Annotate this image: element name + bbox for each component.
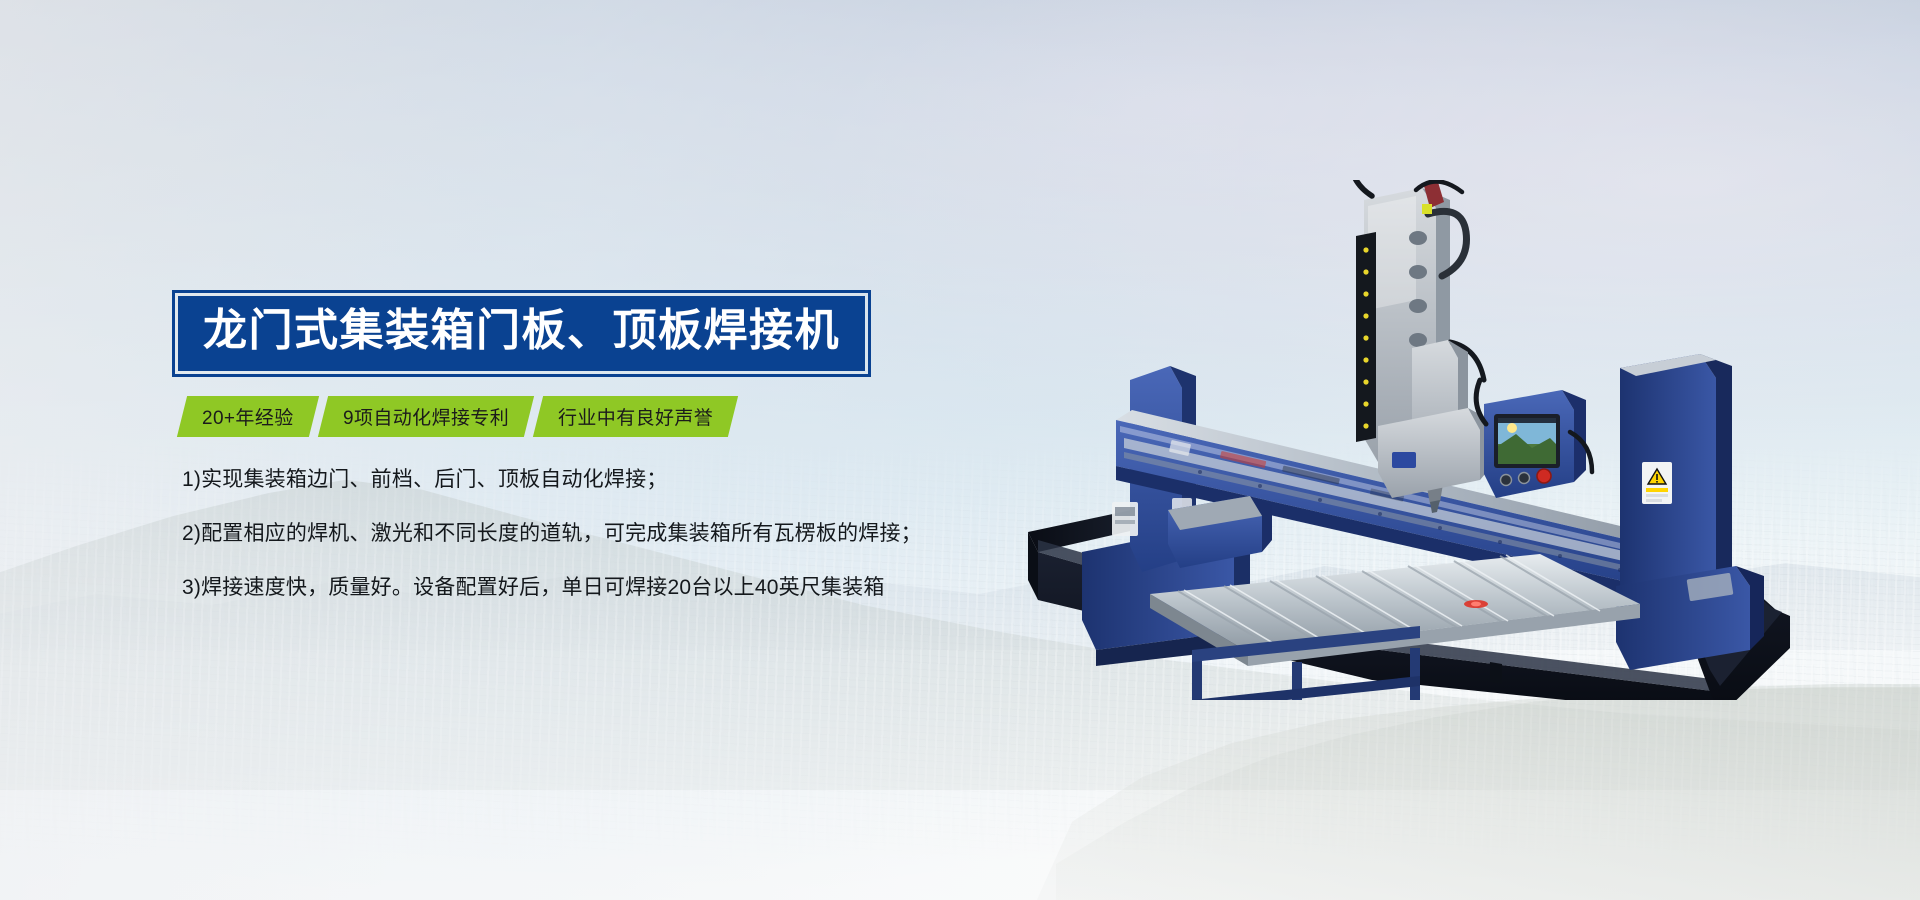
feature-point-list: 1)实现集装箱边门、前档、后门、顶板自动化焊接； 2)配置相应的焊机、激光和不同…: [182, 469, 1098, 598]
feature-point: 1)实现集装箱边门、前档、后门、顶板自动化焊接；: [182, 469, 1098, 490]
headline-plate-inner: 龙门式集装箱门板、顶板焊接机: [181, 299, 862, 368]
feature-badge-list: 20+年经验 9项自动化焊接专利 行业中有良好声誉: [182, 396, 1098, 437]
product-image-gantry-welder: [1020, 180, 1820, 700]
banner-copy: 龙门式集装箱门板、顶板焊接机 20+年经验 9项自动化焊接专利 行业中有良好声誉…: [178, 296, 1098, 598]
feature-badge-label: 行业中有良好声誉: [558, 403, 713, 430]
feature-point: 2)配置相应的焊机、激光和不同长度的道轨，可完成集装箱所有瓦楞板的焊接；: [182, 523, 1098, 544]
feature-point: 3)焊接速度快，质量好。设备配置好后，单日可焊接20台以上40英尺集装箱: [182, 577, 1098, 598]
feature-badge-experience: 20+年经验: [177, 396, 319, 437]
headline-plate: 龙门式集装箱门板、顶板焊接机: [178, 296, 865, 371]
feature-badge-label: 20+年经验: [202, 403, 294, 430]
feature-badge-patents: 9项自动化焊接专利: [318, 396, 534, 437]
feature-badge-reputation: 行业中有良好声誉: [533, 396, 738, 437]
hero-banner: 龙门式集装箱门板、顶板焊接机 20+年经验 9项自动化焊接专利 行业中有良好声誉…: [0, 0, 1920, 900]
page-title: 龙门式集装箱门板、顶板焊接机: [203, 308, 840, 355]
feature-badge-label: 9项自动化焊接专利: [343, 403, 509, 430]
